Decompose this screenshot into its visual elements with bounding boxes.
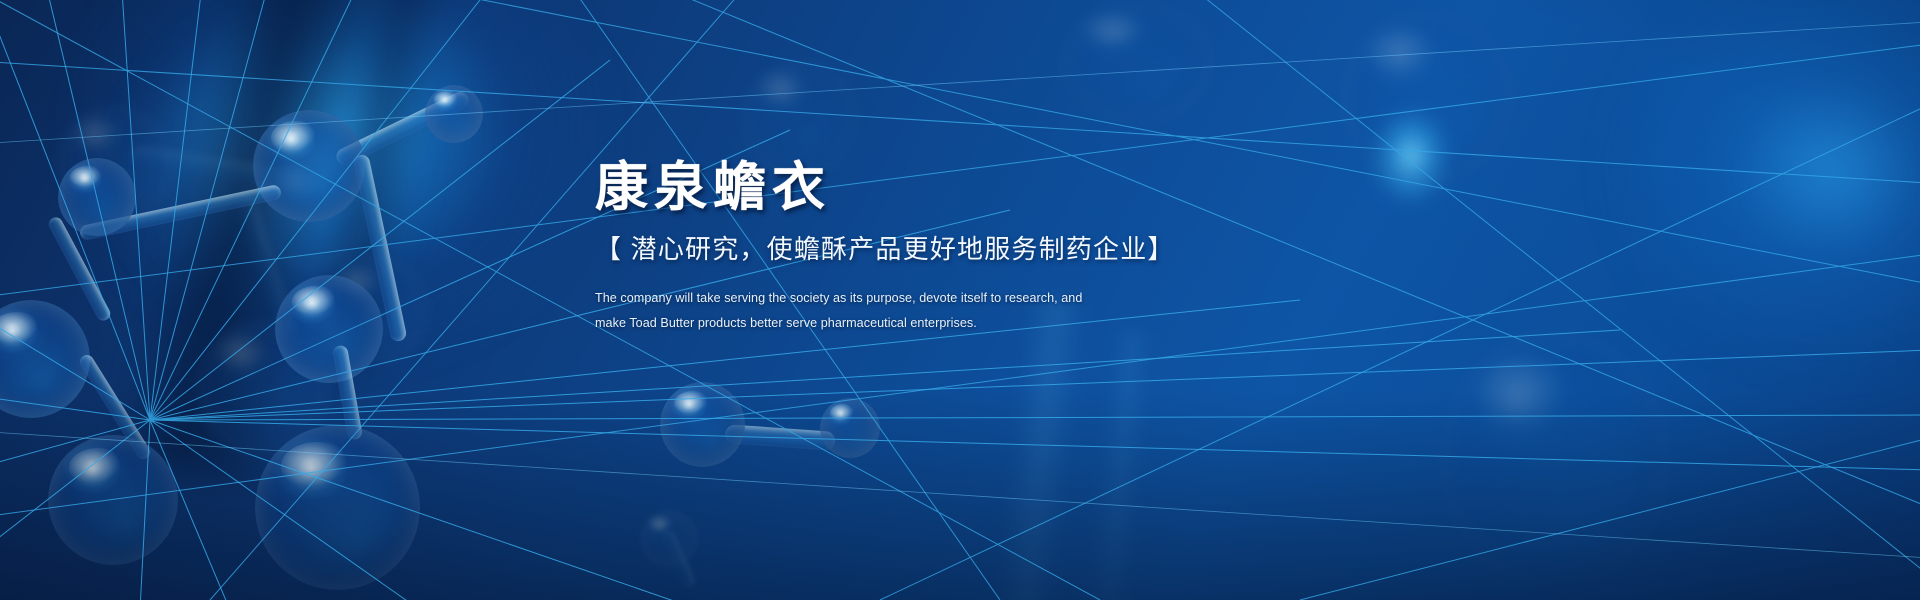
hero-banner: 康泉蟾衣 【 潜心研究，使蟾酥产品更好地服务制药企业】 The company … [0, 0, 1920, 600]
page-subtitle: 【 潜心研究，使蟾酥产品更好地服务制药企业】 [595, 233, 1295, 266]
description-line-1: The company will take serving the societ… [595, 286, 1295, 311]
page-title: 康泉蟾衣 [595, 160, 1295, 216]
description-line-2: make Toad Butter products better serve p… [595, 311, 1295, 336]
page-description: The company will take serving the societ… [595, 286, 1295, 336]
hero-copy: 康泉蟾衣 【 潜心研究，使蟾酥产品更好地服务制药企业】 The company … [595, 160, 1295, 336]
